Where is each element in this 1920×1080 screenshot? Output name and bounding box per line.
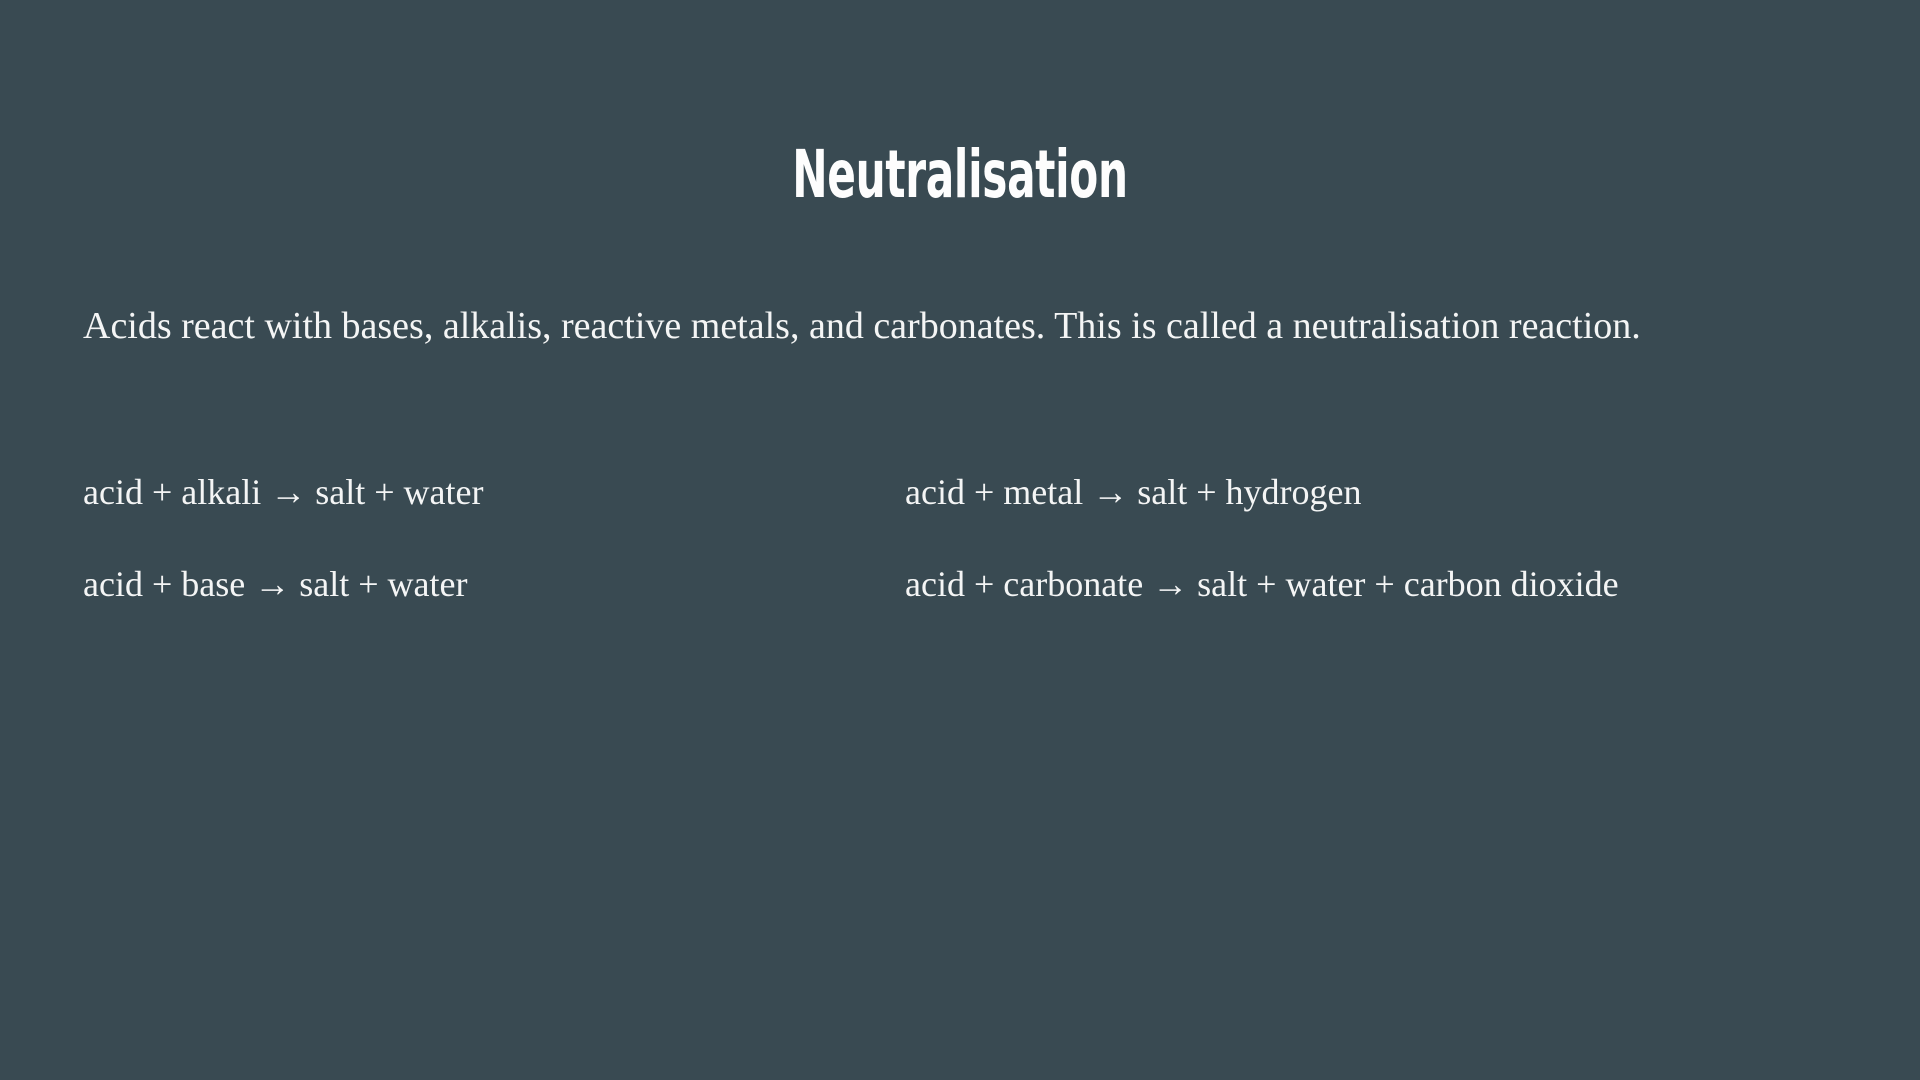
equation-acid-carbonate: acid + carbonate → salt + water + carbon… bbox=[905, 562, 1843, 606]
body-paragraph: Acids react with bases, alkalis, reactiv… bbox=[83, 296, 1753, 356]
equation-grid: acid + alkali → salt + water acid + meta… bbox=[83, 470, 1843, 654]
page-title: Neutralisation bbox=[346, 140, 1575, 209]
equation-acid-base: acid + base → salt + water bbox=[83, 562, 905, 606]
equation-acid-alkali: acid + alkali → salt + water bbox=[83, 470, 905, 514]
equation-acid-metal: acid + metal → salt + hydrogen bbox=[905, 470, 1843, 514]
slide-canvas: Neutralisation Acids react with bases, a… bbox=[0, 0, 1920, 1080]
